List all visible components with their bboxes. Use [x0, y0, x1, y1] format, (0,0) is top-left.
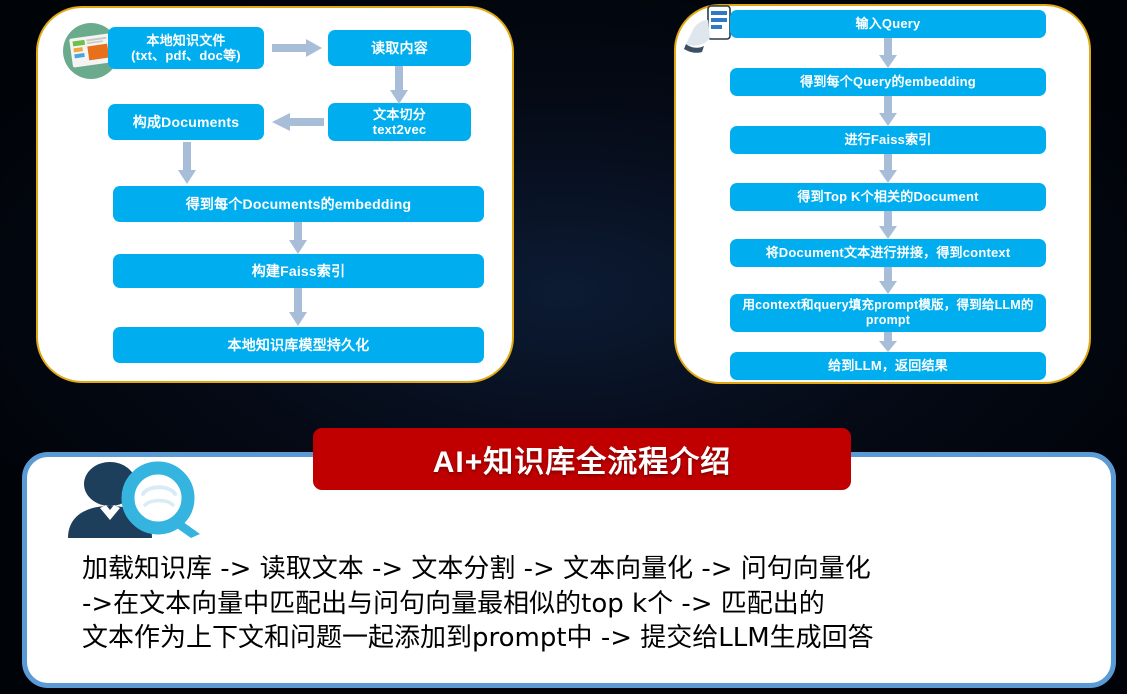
flow-box-persist-knowledge-base[interactable]: 本地知识库模型持久化	[113, 327, 484, 363]
flow-box-read-content[interactable]: 读取内容	[328, 30, 471, 66]
flow-box-documents-embedding[interactable]: 得到每个Documents的embedding	[113, 186, 484, 222]
summary-line: 文本作为上下文和问题一起添加到prompt中 -> 提交给LLM生成回答	[82, 621, 1072, 656]
flow-box-local-knowledge-file[interactable]: 本地知识文件 (txt、pdf、doc等)	[108, 27, 264, 69]
flow-box-label: 进行Faiss索引	[844, 132, 931, 147]
flow-box-label: 得到每个Documents的embedding	[186, 196, 412, 213]
flow-box-label: 读取内容	[371, 40, 428, 57]
flow-box-faiss-search[interactable]: 进行Faiss索引	[730, 126, 1046, 154]
summary-text: 加载知识库 -> 读取文本 -> 文本分割 -> 文本向量化 -> 问句向量化 …	[82, 552, 1072, 656]
flow-box-concat-context[interactable]: 将Document文本进行拼接，得到context	[730, 239, 1046, 267]
flow-box-sublabel: prompt	[866, 313, 910, 328]
arrow-read-to-split	[390, 66, 408, 104]
arrow-split-to-documents	[272, 113, 324, 131]
arrow-search-to-topk	[879, 154, 897, 183]
arrow-query-to-embedding	[879, 38, 897, 68]
arrow-file-to-read	[272, 39, 322, 57]
arrow-embedding-to-faiss	[289, 222, 307, 254]
flow-box-query-embedding[interactable]: 得到每个Query的embedding	[730, 68, 1046, 96]
flow-box-label: 得到Top K个相关的Document	[797, 189, 978, 204]
flow-box-label: 得到每个Query的embedding	[800, 74, 976, 89]
flow-box-call-llm[interactable]: 给到LLM，返回结果	[730, 352, 1046, 380]
flow-box-sublabel: (txt、pdf、doc等)	[131, 48, 241, 63]
flow-box-label: 构成Documents	[133, 114, 239, 131]
flow-box-label: 本地知识文件	[146, 33, 225, 48]
flow-box-label: 本地知识库模型持久化	[228, 337, 370, 354]
flow-box-label: 文本切分	[373, 107, 426, 122]
flow-box-label: 用context和query填充prompt模版，得到给LLM的	[742, 298, 1033, 313]
flow-box-top-k-documents[interactable]: 得到Top K个相关的Document	[730, 183, 1046, 211]
flow-box-fill-prompt-template[interactable]: 用context和query填充prompt模版，得到给LLM的 prompt	[730, 294, 1046, 332]
flow-box-sublabel: text2vec	[373, 122, 427, 137]
flow-box-label: 将Document文本进行拼接，得到context	[766, 245, 1011, 260]
page-title: AI+知识库全流程介绍	[433, 437, 732, 481]
arrow-topk-to-context	[879, 211, 897, 239]
arrow-context-to-prompt	[879, 267, 897, 294]
flow-box-label: 构建Faiss索引	[252, 263, 346, 280]
person-search-icon	[48, 460, 216, 538]
flow-box-build-documents[interactable]: 构成Documents	[108, 104, 264, 140]
flow-box-input-query[interactable]: 输入Query	[730, 10, 1046, 38]
summary-line: ->在文本向量中匹配出与问句向量最相似的top k个 -> 匹配出的	[82, 587, 1072, 622]
arrow-documents-to-embedding	[178, 142, 196, 184]
flow-box-label: 给到LLM，返回结果	[828, 358, 948, 373]
flow-box-text-split[interactable]: 文本切分 text2vec	[328, 103, 471, 141]
summary-line: 加载知识库 -> 读取文本 -> 文本分割 -> 文本向量化 -> 问句向量化	[82, 552, 1072, 587]
flow-box-build-faiss-index[interactable]: 构建Faiss索引	[113, 254, 484, 288]
title-banner: AI+知识库全流程介绍	[313, 428, 851, 490]
flow-box-label: 输入Query	[856, 16, 921, 31]
arrow-faiss-to-persist	[289, 288, 307, 326]
arrow-embedding-to-search	[879, 96, 897, 126]
arrow-prompt-to-llm	[879, 332, 897, 352]
